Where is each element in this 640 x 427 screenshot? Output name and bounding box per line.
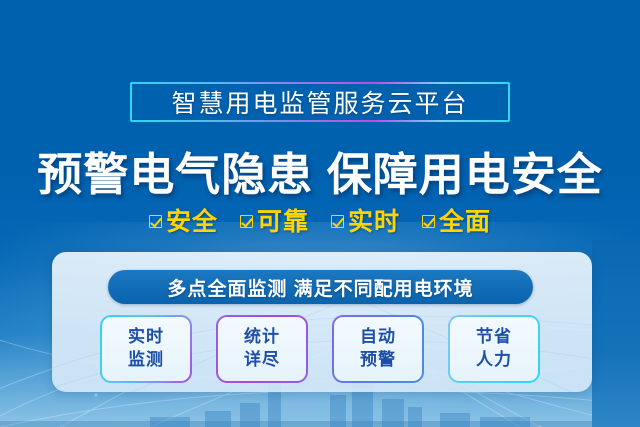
promo-banner: 智慧用电监管服务云平台 预警电气隐患 保障用电安全 安全 可靠 实时 全面	[0, 0, 640, 427]
feature-card-jiesheng-renli[interactable]: 节省 人力	[448, 315, 540, 383]
checkbox-checked-icon	[149, 215, 162, 228]
feature-card-tongji-xiangjin[interactable]: 统计 详尽	[216, 315, 308, 383]
panel-subtitle-text: 多点全面监测 满足不同配用电环境	[167, 274, 473, 301]
card-line-2: 监测	[128, 350, 164, 371]
checkbox-checked-icon	[331, 215, 344, 228]
feature-checklist: 安全 可靠 实时 全面	[0, 202, 640, 238]
check-item-shishi: 实时	[331, 202, 400, 238]
check-label: 全面	[439, 202, 491, 238]
card-line-2: 人力	[476, 350, 512, 371]
card-line-2: 详尽	[244, 350, 280, 371]
check-label: 安全	[166, 202, 218, 238]
card-line-1: 实时	[128, 327, 164, 348]
card-line-1: 自动	[360, 327, 396, 348]
check-item-quanmian: 全面	[422, 202, 491, 238]
panel-subtitle-pill: 多点全面监测 满足不同配用电环境	[108, 270, 533, 304]
platform-title-box: 智慧用电监管服务云平台	[130, 82, 510, 122]
headline-text: 预警电气隐患 保障用电安全	[0, 138, 640, 203]
card-line-2: 预警	[360, 350, 396, 371]
checkbox-checked-icon	[422, 215, 435, 228]
card-line-1: 节省	[476, 327, 512, 348]
right-edge-block	[592, 240, 640, 427]
checkbox-checked-icon	[240, 215, 253, 228]
check-label: 实时	[348, 202, 400, 238]
check-item-kekao: 可靠	[240, 202, 309, 238]
check-item-anquan: 安全	[149, 202, 218, 238]
check-label: 可靠	[257, 202, 309, 238]
feature-card-list: 实时 监测 统计 详尽 自动 预警 节省 人力	[100, 315, 540, 383]
feature-card-shishi-jiance[interactable]: 实时 监测	[100, 315, 192, 383]
card-line-1: 统计	[244, 327, 280, 348]
feature-card-zidong-yujing[interactable]: 自动 预警	[332, 315, 424, 383]
platform-title-text: 智慧用电监管服务云平台	[171, 84, 468, 120]
